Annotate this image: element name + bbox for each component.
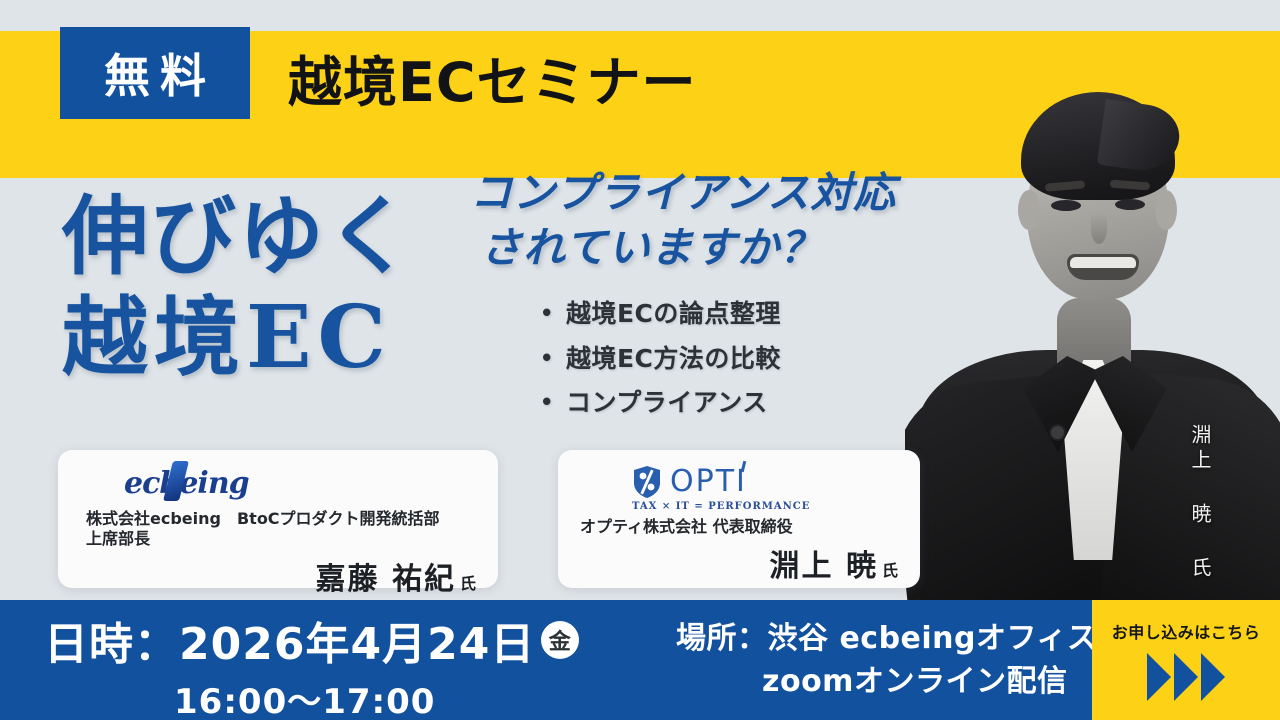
free-badge-label: 無料 bbox=[94, 40, 216, 106]
speaker-org-line-1: 株式会社ecbeing BtoCプロダクト開発統括部 bbox=[86, 509, 482, 529]
venue-line-2: zoomオンライン配信 bbox=[762, 661, 1109, 704]
day-of-week-badge: 金 bbox=[541, 621, 579, 659]
speaker-name: 淵上 暁 bbox=[770, 549, 878, 584]
speaker-org-line-2: 上席部長 bbox=[86, 529, 482, 549]
subtitle-line-2: されていますか？ bbox=[480, 220, 896, 275]
presenter-eye-right bbox=[1115, 199, 1145, 210]
opti-logo-text: OPTI bbox=[670, 464, 747, 499]
list-item: 越境EC方法の比較 bbox=[540, 337, 781, 382]
presenter-nose bbox=[1091, 214, 1107, 244]
cta-arrows bbox=[1147, 653, 1225, 701]
presenter-photo bbox=[905, 30, 1280, 602]
datetime-label: 日時： bbox=[44, 608, 179, 672]
speaker-name-block: 嘉藤 祐紀氏 bbox=[86, 554, 482, 598]
presenter-eye-left bbox=[1051, 200, 1081, 211]
speaker-org-line-1: オプティ株式会社 代表取締役 bbox=[580, 517, 904, 537]
venue-block: 場所：渋谷 ecbeingオフィス/ zoomオンライン配信 bbox=[676, 618, 1109, 703]
speaker-honorific: 氏 bbox=[460, 574, 476, 593]
subtitle-line-1: コンプライアンス対応 bbox=[470, 168, 896, 217]
opti-tagline: TAX × IT = PERFORMANCE bbox=[632, 501, 904, 512]
event-time-range: 16:00〜17:00 bbox=[174, 674, 579, 720]
lapel-microphone-icon bbox=[1051, 426, 1064, 439]
hero-headline: 伸びゆく 越境EC bbox=[62, 186, 414, 389]
speaker-honorific: 氏 bbox=[882, 561, 898, 580]
headline-line-1: 伸びゆく bbox=[62, 186, 414, 287]
hero-subtitle: コンプライアンス対応 されていますか？ bbox=[470, 165, 896, 276]
presenter-vertical-name: 淵上 暁 氏 bbox=[1186, 424, 1215, 582]
speaker-name-block: 淵上 暁氏 bbox=[580, 541, 904, 585]
presenter-teeth bbox=[1070, 257, 1136, 268]
presenter-ear-left bbox=[1018, 190, 1040, 230]
list-item: コンプライアンス bbox=[540, 381, 781, 426]
ecbeing-logo: ecbeing bbox=[124, 466, 249, 501]
speaker-card-opti: OPTI TAX × IT = PERFORMANCE オプティ株式会社 代表取… bbox=[558, 450, 920, 588]
presenter-mouth bbox=[1067, 254, 1139, 280]
headline-line-2: 越境EC bbox=[62, 287, 414, 388]
opti-wordmark: OPTI bbox=[670, 464, 747, 499]
chevron-right-icon bbox=[1174, 653, 1198, 701]
seminar-poster: 無料 越境ECセミナー 伸びゆく 越境EC コンプライアンス対応 されていますか… bbox=[0, 0, 1280, 720]
datetime-line-1: 日時：2026年4月24日 金 bbox=[44, 608, 579, 672]
speaker-card-ecbeing: ecbeing 株式会社ecbeing BtoCプロダクト開発統括部 上席部長 … bbox=[58, 450, 498, 588]
venue-label: 場所： bbox=[676, 621, 768, 656]
seminar-title: 越境ECセミナー bbox=[288, 38, 697, 117]
venue-line-1: 渋谷 ecbeingオフィス/ bbox=[768, 621, 1109, 656]
datetime-block: 日時：2026年4月24日 金 16:00〜17:00 bbox=[44, 608, 579, 720]
chevron-right-icon bbox=[1147, 653, 1171, 701]
event-date: 2026年4月24日 bbox=[179, 608, 535, 672]
chevron-right-icon bbox=[1201, 653, 1225, 701]
speaker-name: 嘉藤 祐紀 bbox=[316, 562, 456, 597]
presenter-ear-right bbox=[1155, 190, 1177, 230]
apply-cta-button[interactable]: お申し込みはこちら bbox=[1092, 600, 1280, 720]
topic-bullet-list: 越境ECの論点整理 越境EC方法の比較 コンプライアンス bbox=[540, 292, 781, 426]
list-item: 越境ECの論点整理 bbox=[540, 292, 781, 337]
free-badge: 無料 bbox=[60, 27, 250, 119]
apply-cta-label: お申し込みはこちら bbox=[1112, 619, 1261, 643]
shield-icon bbox=[632, 465, 662, 499]
opti-logo: OPTI bbox=[632, 464, 904, 499]
